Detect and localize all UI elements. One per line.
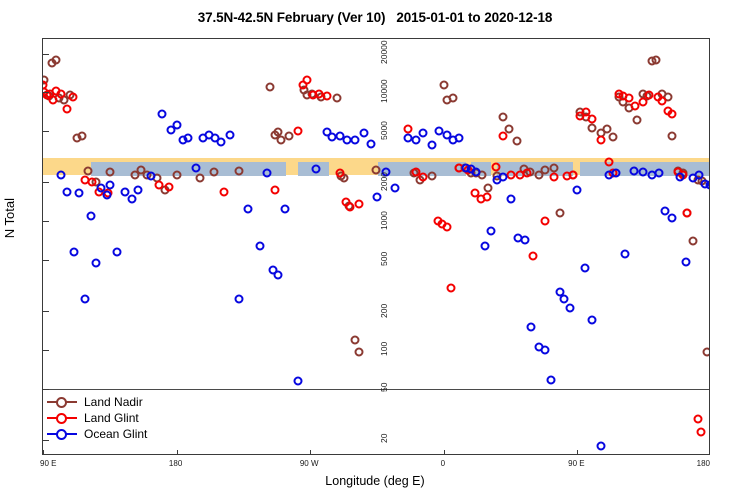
y-tick-label: 10000 [18, 91, 750, 92]
data-point [481, 242, 490, 251]
data-point [209, 168, 218, 177]
legend-item-land-glint[interactable]: Land Glint [47, 410, 147, 426]
data-point [560, 294, 569, 303]
data-point [285, 131, 294, 140]
data-point [68, 93, 77, 102]
data-point [658, 96, 667, 105]
data-point [184, 134, 193, 143]
data-point [350, 335, 359, 344]
data-point [540, 165, 549, 174]
data-point [243, 204, 252, 213]
legend-marker-icon [47, 411, 77, 425]
data-point [105, 181, 114, 190]
data-point [540, 345, 549, 354]
data-point [696, 428, 705, 437]
data-point [220, 187, 229, 196]
data-point [506, 194, 515, 203]
y-tick [43, 92, 49, 93]
data-point [263, 169, 272, 178]
data-point [234, 167, 243, 176]
data-point [390, 184, 399, 193]
x-tick [577, 450, 578, 455]
data-point [255, 242, 264, 251]
chart-title: 37.5N-42.5N February (Ver 10) 2015-01-01… [0, 10, 750, 25]
y-tick [43, 260, 49, 261]
data-point [191, 163, 200, 172]
data-point [668, 109, 677, 118]
legend-label: Ocean Glint [84, 427, 147, 441]
y-tick [43, 131, 49, 132]
data-point [77, 131, 86, 140]
legend-marker-icon [47, 395, 77, 409]
y-tick [43, 54, 49, 55]
x-axis-label: Longitude (deg E) [0, 474, 750, 488]
data-point [427, 141, 436, 150]
data-point [644, 91, 653, 100]
y-tick-label: 200 [18, 310, 750, 311]
data-point [439, 80, 448, 89]
data-point [226, 130, 235, 139]
data-point [454, 134, 463, 143]
data-point [521, 235, 530, 244]
data-point [597, 135, 606, 144]
y-tick [43, 350, 49, 351]
threshold-line [43, 389, 709, 390]
data-point [154, 181, 163, 190]
x-tick-label: 90 E [568, 459, 584, 468]
data-point [499, 131, 508, 140]
data-point [172, 170, 181, 179]
data-point [105, 168, 114, 177]
y-tick-label: 2000 [18, 181, 750, 182]
data-point [689, 237, 698, 246]
y-axis-label: N Total [2, 198, 17, 238]
data-point [303, 75, 312, 84]
data-point [638, 168, 647, 177]
data-point [322, 91, 331, 100]
data-point [702, 348, 710, 357]
data-point [335, 169, 344, 178]
legend-item-ocean-glint[interactable]: Ocean Glint [47, 426, 147, 442]
legend-item-land-nadir[interactable]: Land Nadir [47, 394, 147, 410]
data-point [482, 192, 491, 201]
data-point [668, 214, 677, 223]
data-point [620, 249, 629, 258]
data-point [294, 127, 303, 136]
data-point [312, 164, 321, 173]
data-point [172, 120, 181, 129]
data-point [611, 169, 620, 178]
data-point [56, 170, 65, 179]
data-point [280, 204, 289, 213]
x-tick-label: 90 E [40, 459, 56, 468]
data-point [448, 94, 457, 103]
x-tick [444, 450, 445, 455]
data-point [527, 323, 536, 332]
data-point [427, 171, 436, 180]
data-point [668, 131, 677, 140]
data-point [683, 209, 692, 218]
data-point [373, 192, 382, 201]
data-point [157, 109, 166, 118]
legend-marker-icon [47, 427, 77, 441]
plot-area [42, 38, 710, 455]
data-point [565, 304, 574, 313]
data-point [588, 123, 597, 132]
x-tick-label: 90 W [300, 459, 319, 468]
data-point [652, 56, 661, 65]
x-tick [43, 450, 44, 455]
data-point [346, 202, 355, 211]
data-point [588, 316, 597, 325]
data-point [62, 105, 71, 114]
data-point [693, 415, 702, 424]
y-tick [43, 311, 49, 312]
y-tick [43, 221, 49, 222]
data-point [102, 190, 111, 199]
legend-label: Land Glint [84, 411, 139, 425]
y-tick-label: 1000 [18, 220, 750, 221]
data-point [705, 181, 710, 190]
y-tick-label: 5000 [18, 130, 750, 131]
data-point [568, 170, 577, 179]
data-point [546, 376, 555, 385]
data-point [62, 187, 71, 196]
data-point [70, 247, 79, 256]
data-point [512, 136, 521, 145]
data-point [87, 178, 96, 187]
data-point [491, 162, 500, 171]
data-point [355, 200, 364, 209]
data-point [447, 284, 456, 293]
data-point [540, 217, 549, 226]
data-point [555, 209, 564, 218]
data-point [113, 247, 122, 256]
data-point [588, 115, 597, 124]
data-point [522, 169, 531, 178]
data-point [487, 226, 496, 235]
data-point [134, 185, 143, 194]
data-point [355, 348, 364, 357]
data-point [92, 259, 101, 268]
data-point [580, 264, 589, 273]
data-point [442, 223, 451, 232]
y-tick [43, 182, 49, 183]
data-point [74, 189, 83, 198]
data-point [404, 124, 413, 133]
data-point [332, 94, 341, 103]
data-point [609, 133, 618, 142]
x-tick-label: 0 [441, 459, 445, 468]
chart-legend: Land NadirLand GlintOcean Glint [47, 394, 147, 442]
data-point [147, 171, 156, 180]
ocean-coverage-band [91, 162, 287, 176]
data-point [52, 55, 61, 64]
data-point [367, 139, 376, 148]
data-point [499, 112, 508, 121]
data-point [695, 170, 704, 179]
x-tick [310, 450, 311, 455]
data-point [80, 294, 89, 303]
x-tick [177, 450, 178, 455]
data-point [681, 258, 690, 267]
data-point [86, 211, 95, 220]
data-point [276, 135, 285, 144]
data-point [472, 168, 481, 177]
data-point [273, 271, 282, 280]
data-point [604, 157, 613, 166]
data-point [625, 93, 634, 102]
data-point [632, 116, 641, 125]
data-point [270, 185, 279, 194]
data-point [350, 135, 359, 144]
chart-root: 37.5N-42.5N February (Ver 10) 2015-01-01… [0, 0, 750, 500]
data-point [217, 138, 226, 147]
data-point [597, 441, 606, 450]
data-point [573, 185, 582, 194]
data-point [655, 169, 664, 178]
data-point [165, 182, 174, 191]
x-tick-label: 180 [697, 459, 710, 468]
x-tick-label: 180 [169, 459, 182, 468]
data-point [629, 167, 638, 176]
data-point [660, 206, 669, 215]
data-point [294, 377, 303, 386]
legend-label: Land Nadir [84, 395, 143, 409]
data-point [128, 194, 137, 203]
data-point [234, 294, 243, 303]
data-point [549, 163, 558, 172]
y-tick [43, 389, 49, 390]
